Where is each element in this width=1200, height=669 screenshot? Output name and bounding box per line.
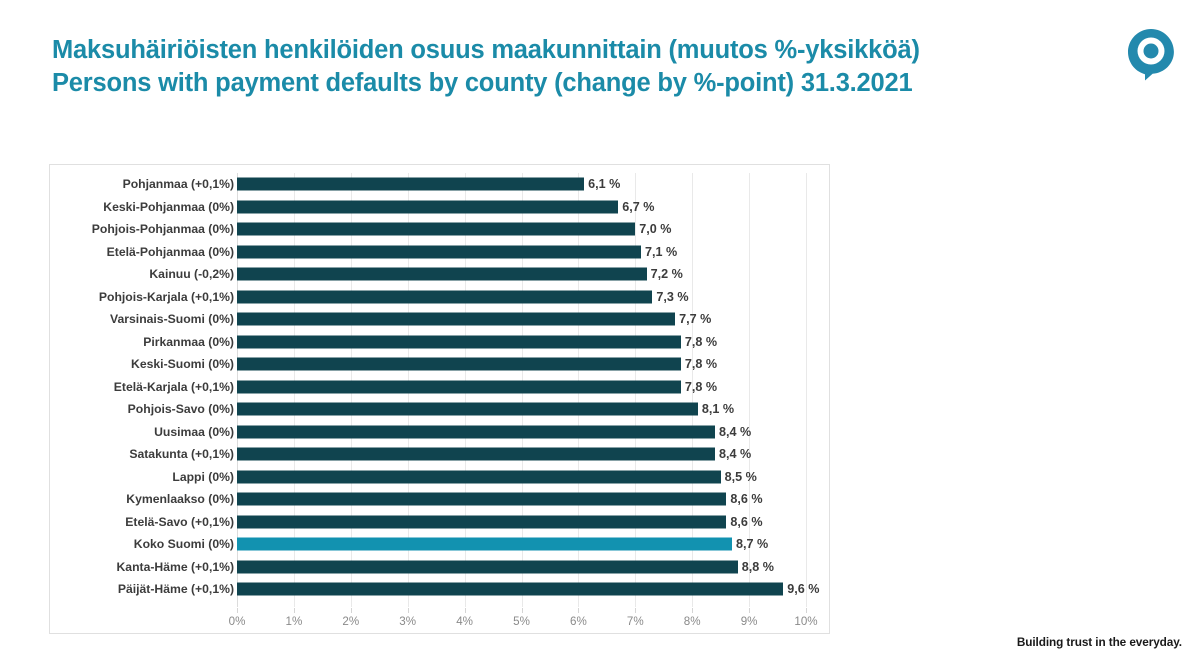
bar-row: Keski-Pohjanmaa (0%)6,7 % [50, 196, 829, 219]
tick-mark [578, 608, 579, 613]
bar-row: Satakunta (+0,1%)8,4 % [50, 443, 829, 466]
category-label: Satakunta (+0,1%) [129, 447, 234, 461]
chart-panel: Pohjanmaa (+0,1%)6,1 %Keski-Pohjanmaa (0… [49, 164, 830, 634]
category-label: Etelä-Karjala (+0,1%) [114, 380, 234, 394]
bar [237, 223, 635, 236]
category-label: Uusimaa (0%) [154, 425, 234, 439]
title-line-english: Persons with payment defaults by county … [52, 67, 1072, 100]
bar [237, 403, 698, 416]
x-tick-label: 1% [286, 615, 303, 628]
tick-mark [294, 608, 295, 613]
category-label: Päijät-Häme (+0,1%) [118, 582, 234, 596]
brand-logo [1120, 22, 1182, 84]
bar-row: Pohjois-Karjala (+0,1%)7,3 % [50, 286, 829, 309]
x-tick-label: 5% [513, 615, 530, 628]
category-label: Kymenlaakso (0%) [126, 492, 234, 506]
bar [237, 358, 681, 371]
bar-value-label: 7,2 % [651, 267, 683, 281]
bar-value-label: 8,7 % [736, 537, 768, 551]
category-label: Koko Suomi (0%) [134, 537, 234, 551]
bar [237, 448, 715, 461]
bar-value-label: 6,7 % [622, 200, 654, 214]
x-tick-label: 9% [741, 615, 758, 628]
bar-row: Etelä-Pohjanmaa (0%)7,1 % [50, 241, 829, 264]
bar [237, 515, 726, 528]
x-axis: 0%1%2%3%4%5%6%7%8%9%10% [50, 608, 829, 633]
tick-mark [692, 608, 693, 613]
bar-value-label: 7,1 % [645, 245, 677, 259]
tick-mark [806, 608, 807, 613]
bar-rows: Pohjanmaa (+0,1%)6,1 %Keski-Pohjanmaa (0… [50, 173, 829, 601]
bar-row: Pohjois-Pohjanmaa (0%)7,0 % [50, 218, 829, 241]
bar-row: Etelä-Savo (+0,1%)8,6 % [50, 511, 829, 534]
bar [237, 470, 721, 483]
bar-highlighted [237, 538, 732, 551]
bar [237, 583, 783, 596]
category-label: Keski-Suomi (0%) [131, 357, 234, 371]
bar-row: Koko Suomi (0%)8,7 % [50, 533, 829, 556]
x-tick-label: 10% [794, 615, 817, 628]
location-pin-icon [1120, 22, 1182, 84]
bar [237, 380, 681, 393]
bar-row: Pohjois-Savo (0%)8,1 % [50, 398, 829, 421]
x-tick-label: 3% [399, 615, 416, 628]
category-label: Pohjois-Karjala (+0,1%) [99, 290, 234, 304]
bar [237, 335, 681, 348]
category-label: Pohjois-Pohjanmaa (0%) [92, 222, 234, 236]
category-label: Keski-Pohjanmaa (0%) [103, 200, 234, 214]
tick-mark [749, 608, 750, 613]
pin-center-dot [1144, 44, 1159, 59]
bar-row: Kanta-Häme (+0,1%)8,8 % [50, 556, 829, 579]
bar-row: Keski-Suomi (0%)7,8 % [50, 353, 829, 376]
bar-row: Lappi (0%)8,5 % [50, 466, 829, 489]
bar [237, 200, 618, 213]
x-tick-label: 2% [342, 615, 359, 628]
tick-mark [635, 608, 636, 613]
title-line-finnish: Maksuhäiriöisten henkilöiden osuus maaku… [52, 34, 1072, 67]
bar [237, 425, 715, 438]
bar-value-label: 8,6 % [730, 492, 762, 506]
bar-value-label: 8,6 % [730, 515, 762, 529]
bar [237, 493, 726, 506]
bar-value-label: 7,8 % [685, 380, 717, 394]
bar-value-label: 8,4 % [719, 425, 751, 439]
category-label: Lappi (0%) [172, 470, 234, 484]
bar-row: Päijät-Häme (+0,1%)9,6 % [50, 578, 829, 601]
bar-row: Varsinais-Suomi (0%)7,7 % [50, 308, 829, 331]
category-label: Kainuu (-0,2%) [149, 267, 234, 281]
bar-value-label: 8,1 % [702, 402, 734, 416]
x-tick-label: 0% [229, 615, 246, 628]
bar-row: Pohjanmaa (+0,1%)6,1 % [50, 173, 829, 196]
x-tick-label: 8% [684, 615, 701, 628]
bar [237, 268, 647, 281]
category-label: Pirkanmaa (0%) [143, 335, 234, 349]
bar-value-label: 7,0 % [639, 222, 671, 236]
category-label: Pohjois-Savo (0%) [128, 402, 234, 416]
page-header: Maksuhäiriöisten henkilöiden osuus maaku… [0, 0, 1200, 130]
tick-mark [351, 608, 352, 613]
bar [237, 245, 641, 258]
bar-value-label: 7,8 % [685, 357, 717, 371]
bar [237, 178, 584, 191]
tick-mark [408, 608, 409, 613]
category-label: Varsinais-Suomi (0%) [110, 312, 234, 326]
plot-area: Pohjanmaa (+0,1%)6,1 %Keski-Pohjanmaa (0… [50, 165, 829, 633]
bar-value-label: 8,8 % [742, 560, 774, 574]
footer-tagline: Building trust in the everyday. [1017, 635, 1182, 649]
x-tick-label: 4% [456, 615, 473, 628]
tick-mark [237, 608, 238, 613]
x-tick-label: 6% [570, 615, 587, 628]
bar-value-label: 9,6 % [787, 582, 819, 596]
tick-mark [522, 608, 523, 613]
bar-value-label: 8,4 % [719, 447, 751, 461]
bar-row: Kymenlaakso (0%)8,6 % [50, 488, 829, 511]
tick-mark [465, 608, 466, 613]
bar [237, 313, 675, 326]
bar-value-label: 7,7 % [679, 312, 711, 326]
category-label: Etelä-Pohjanmaa (0%) [107, 245, 234, 259]
bar-value-label: 8,5 % [725, 470, 757, 484]
bar-row: Etelä-Karjala (+0,1%)7,8 % [50, 376, 829, 399]
category-label: Pohjanmaa (+0,1%) [123, 177, 234, 191]
page-title: Maksuhäiriöisten henkilöiden osuus maaku… [52, 34, 1072, 100]
bar-row: Kainuu (-0,2%)7,2 % [50, 263, 829, 286]
bar-value-label: 6,1 % [588, 177, 620, 191]
x-tick-label: 7% [627, 615, 644, 628]
category-label: Etelä-Savo (+0,1%) [125, 515, 234, 529]
bar-value-label: 7,8 % [685, 335, 717, 349]
bar-row: Uusimaa (0%)8,4 % [50, 421, 829, 444]
category-label: Kanta-Häme (+0,1%) [116, 560, 234, 574]
bar-row: Pirkanmaa (0%)7,8 % [50, 331, 829, 354]
bar-value-label: 7,3 % [656, 290, 688, 304]
bar [237, 290, 652, 303]
bar [237, 560, 738, 573]
